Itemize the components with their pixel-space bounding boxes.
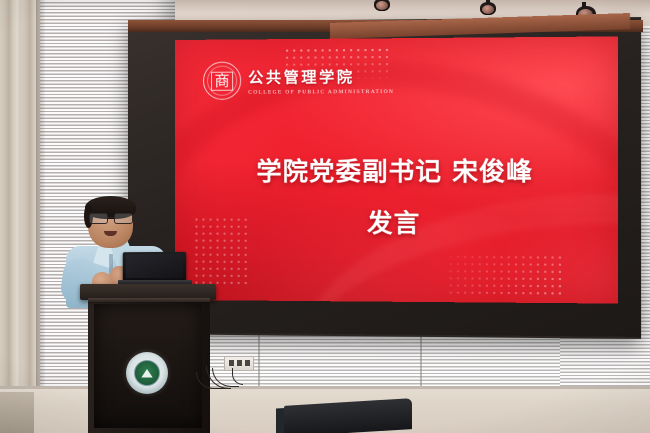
photo-scene: 商 公共管理学院 COLLEGE OF PUBLIC ADMINISTRATIO… bbox=[0, 0, 650, 433]
college-name-en: COLLEGE OF PUBLIC ADMINISTRATION bbox=[248, 88, 394, 95]
podium-bevel bbox=[88, 298, 210, 302]
dot-grid-bottom-right-decor bbox=[447, 253, 561, 299]
glasses-icon bbox=[88, 213, 133, 223]
spotlight-icon bbox=[374, 0, 390, 11]
presentation-slide: 商 公共管理学院 COLLEGE OF PUBLIC ADMINISTRATIO… bbox=[175, 36, 618, 303]
seal-inner-mark bbox=[134, 360, 160, 386]
seal-glyph: 商 bbox=[212, 71, 233, 90]
college-name-cn: 公共管理学院 bbox=[248, 65, 394, 87]
university-seal-icon bbox=[126, 352, 168, 394]
slide-title-line-2: 发言 bbox=[175, 203, 618, 241]
laptop-device bbox=[123, 252, 186, 282]
college-seal-icon: 商 bbox=[203, 62, 241, 100]
wall-seam bbox=[258, 330, 260, 392]
floor-speaker-box bbox=[0, 392, 34, 433]
wall-seam bbox=[420, 330, 422, 392]
curtain-shadow bbox=[36, 0, 46, 392]
spotlight-icon bbox=[480, 2, 496, 15]
window-curtain bbox=[0, 0, 40, 392]
college-logo: 商 公共管理学院 COLLEGE OF PUBLIC ADMINISTRATIO… bbox=[203, 61, 394, 100]
slide-title-line-1: 学院党委副书记 宋俊峰 bbox=[175, 152, 618, 189]
laptop-screen bbox=[126, 254, 183, 278]
